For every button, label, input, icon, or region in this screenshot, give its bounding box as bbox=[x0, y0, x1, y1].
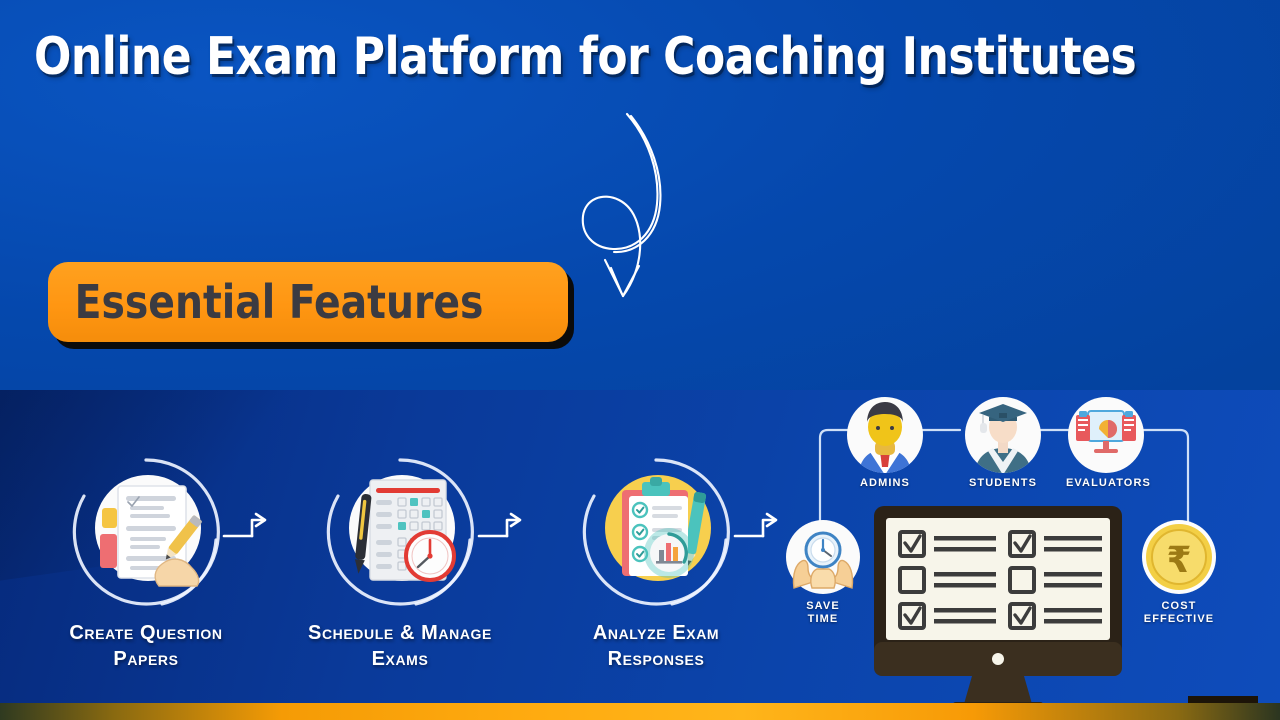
essential-features-badge[interactable]: Essential Features bbox=[48, 262, 568, 344]
badge-label: Essential Features bbox=[48, 275, 483, 329]
role-label: STUDENTS bbox=[963, 477, 1043, 490]
benefit-label-line2: TIME bbox=[808, 613, 839, 625]
benefit-label-line2: EFFECTIVE bbox=[1144, 613, 1214, 625]
flow-step-label: Create Question Papers bbox=[46, 620, 246, 672]
desktop-monitor-icon bbox=[868, 502, 1148, 720]
page-title: Online Exam Platform for Coaching Instit… bbox=[34, 28, 1143, 86]
illustration-panel: Create Question Papers bbox=[0, 390, 1280, 720]
benefit-label: SAVE TIME bbox=[782, 600, 864, 626]
role-evaluators: EVALUATORS bbox=[1066, 395, 1146, 480]
hero-panel: Online Exam Platform for Coaching Instit… bbox=[0, 0, 1280, 390]
benefit-save-time: SAVE TIME bbox=[784, 518, 862, 601]
rupee-coin-icon: ₹ bbox=[1140, 518, 1218, 596]
footer-strip bbox=[0, 703, 1280, 720]
role-label: EVALUATORS bbox=[1066, 477, 1146, 490]
flow-step-label: Schedule & Manage Exams bbox=[300, 620, 500, 672]
admin-avatar-icon bbox=[845, 395, 925, 475]
benefit-label-line1: SAVE bbox=[806, 600, 840, 612]
badge-surface[interactable]: Essential Features bbox=[48, 262, 568, 342]
clipboard-chart-icon bbox=[576, 452, 736, 612]
graduate-avatar-icon bbox=[963, 395, 1043, 475]
hands-holding-clock-icon bbox=[784, 518, 862, 596]
evaluator-monitor-icon bbox=[1066, 395, 1146, 475]
role-admins: ADMINS bbox=[845, 395, 925, 480]
right-arrow-icon bbox=[477, 510, 523, 546]
question-paper-icon bbox=[66, 452, 226, 612]
role-label: ADMINS bbox=[845, 477, 925, 490]
slide-canvas: Online Exam Platform for Coaching Instit… bbox=[0, 0, 1280, 720]
right-arrow-icon bbox=[222, 510, 268, 546]
role-students: STUDENTS bbox=[963, 395, 1043, 480]
curved-doodle-arrow-icon bbox=[565, 100, 685, 310]
benefit-label-line1: COST bbox=[1162, 600, 1197, 612]
benefit-cost-effective: ₹ COST EFFECTIVE bbox=[1140, 518, 1218, 601]
answer-sheet-clock-icon bbox=[320, 452, 480, 612]
svg-text:₹: ₹ bbox=[1166, 540, 1191, 581]
flow-step-label: Analyze Exam Responses bbox=[556, 620, 756, 672]
